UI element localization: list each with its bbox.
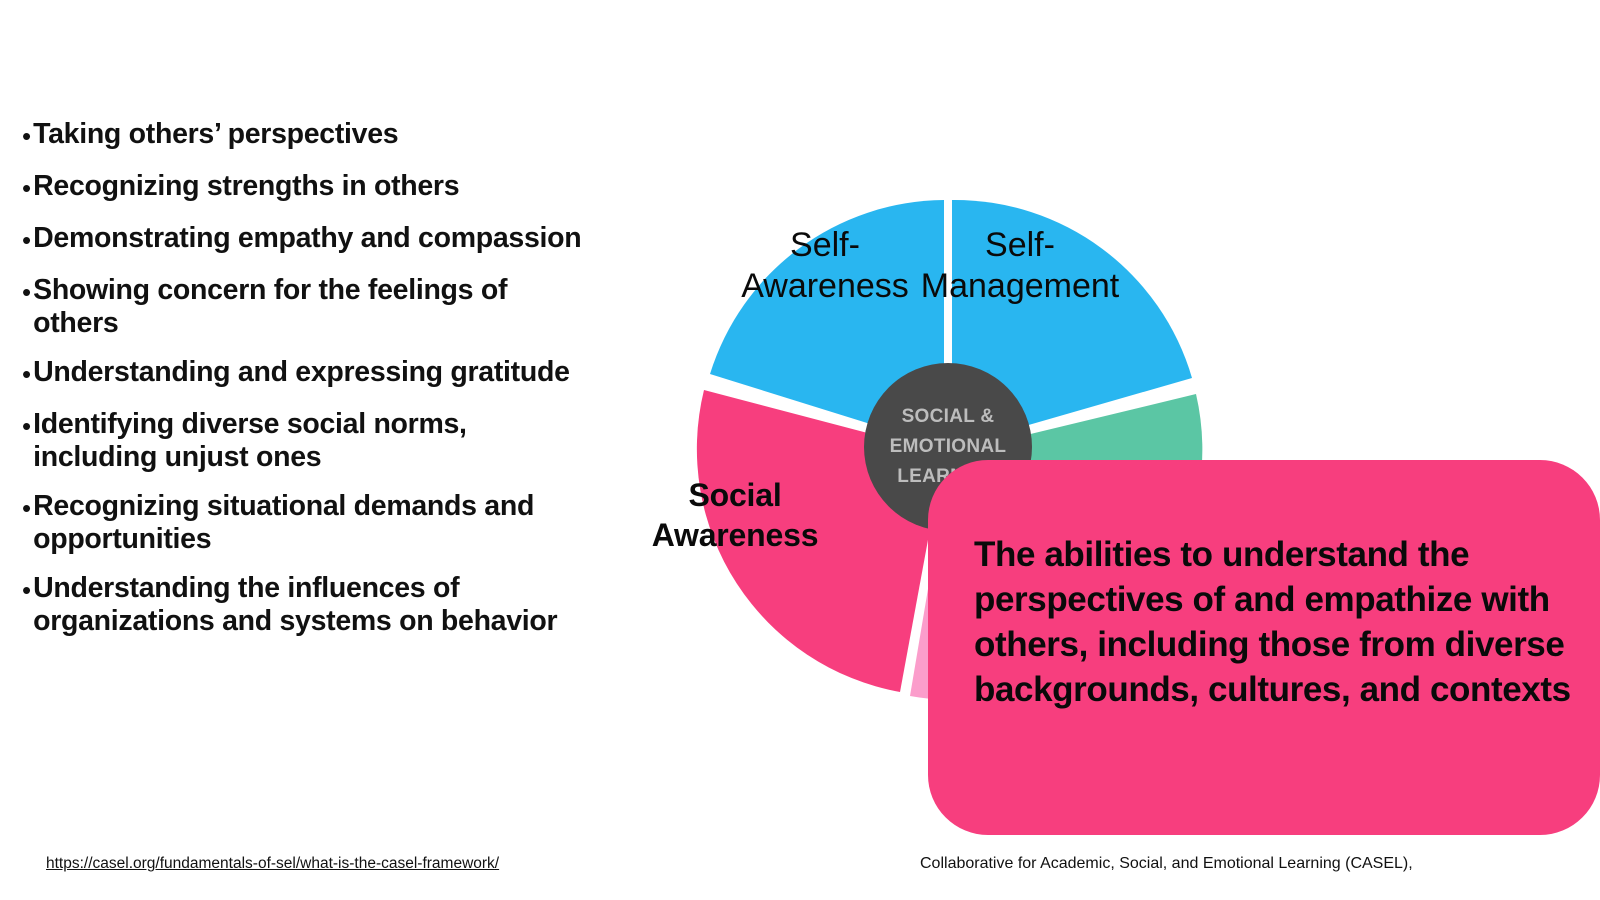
competency-bullet-list: • Taking others’ perspectives • Recogniz… (22, 118, 582, 654)
list-item-label: Showing concern for the feelings of othe… (33, 274, 582, 340)
hub-line-2: EMOTIONAL (890, 432, 1007, 462)
list-item-label: Demonstrating empathy and compassion (33, 222, 581, 255)
hub-line-1: SOCIAL & (902, 402, 995, 432)
list-item-label: Taking others’ perspectives (33, 118, 398, 151)
list-item-label: Recognizing strengths in others (33, 170, 459, 203)
list-item-label: Identifying diverse social norms, includ… (33, 408, 582, 474)
bullet-dot-icon: • (22, 118, 31, 154)
list-item: • Identifying diverse social norms, incl… (22, 408, 582, 474)
list-item: • Taking others’ perspectives (22, 118, 582, 154)
social-awareness-callout: The abilities to understand the perspect… (928, 460, 1600, 835)
list-item-label: Recognizing situational demands and oppo… (33, 490, 582, 556)
bullet-dot-icon: • (22, 490, 31, 526)
bullet-dot-icon: • (22, 222, 31, 258)
list-item-label: Understanding and expressing gratitude (33, 356, 570, 389)
list-item-label: Understanding the influences of organiza… (33, 572, 582, 638)
list-item: • Demonstrating empathy and compassion (22, 222, 582, 258)
list-item: • Understanding the influences of organi… (22, 572, 582, 638)
list-item: • Understanding and expressing gratitude (22, 356, 582, 392)
bullet-dot-icon: • (22, 170, 31, 206)
source-url-link[interactable]: https://casel.org/fundamentals-of-sel/wh… (46, 855, 499, 873)
organization-credit: Collaborative for Academic, Social, and … (920, 855, 1413, 873)
bullet-dot-icon: • (22, 356, 31, 392)
bullet-dot-icon: • (22, 408, 31, 444)
bullet-dot-icon: • (22, 572, 31, 608)
bullet-dot-icon: • (22, 274, 31, 310)
list-item: • Showing concern for the feelings of ot… (22, 274, 582, 340)
callout-description: The abilities to understand the perspect… (974, 532, 1574, 712)
list-item: • Recognizing situational demands and op… (22, 490, 582, 556)
list-item: • Recognizing strengths in others (22, 170, 582, 206)
